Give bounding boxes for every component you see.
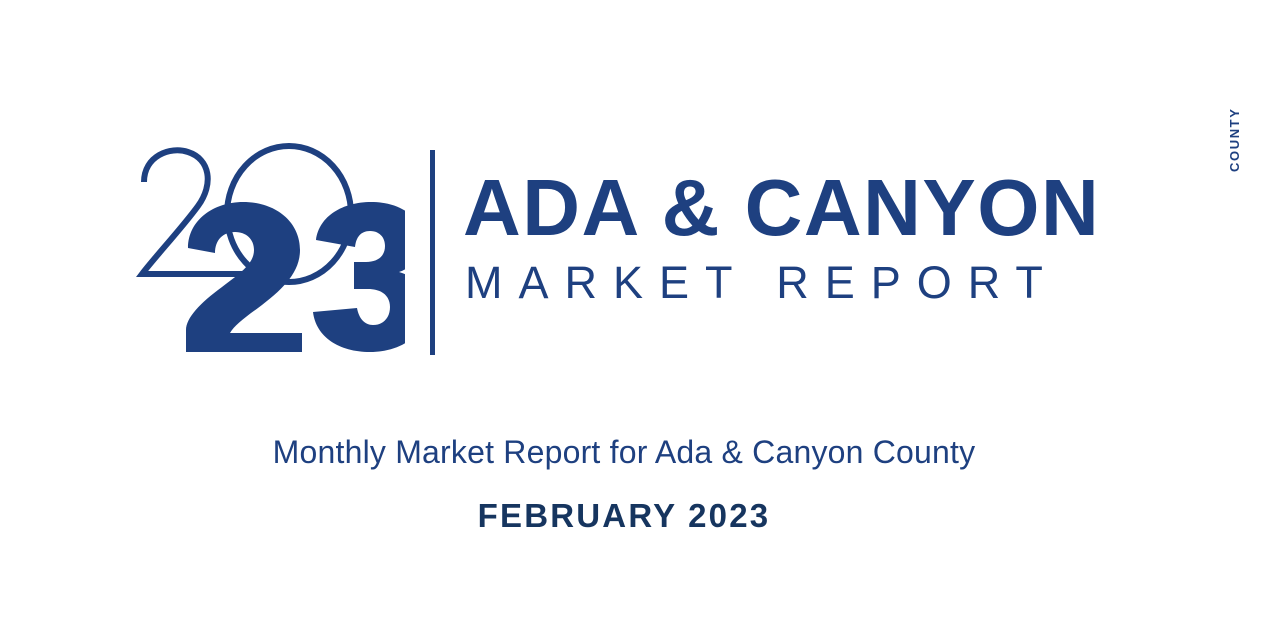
logo-divider-rule: [430, 150, 435, 355]
brand-wordmark: ADA & CANYON COUNTY MARKET REPORT: [463, 140, 1123, 355]
wordmark-secondary-text: MARKET REPORT: [465, 260, 1059, 305]
year-mark-graphic: [130, 140, 405, 355]
report-subtitle: Monthly Market Report for Ada & Canyon C…: [0, 430, 1248, 474]
wordmark-county-tag: COUNTY: [1228, 108, 1241, 173]
brand-logo-lockup: ADA & CANYON COUNTY MARKET REPORT: [130, 140, 1130, 355]
wordmark-primary-text: ADA & CANYON: [463, 168, 1100, 248]
report-cover-page: ADA & CANYON COUNTY MARKET REPORT Monthl…: [0, 0, 1276, 622]
cover-caption-block: Monthly Market Report for Ada & Canyon C…: [0, 430, 1248, 536]
year-2023-logo-mark: [130, 140, 405, 355]
report-date: FEBRUARY 2023: [0, 496, 1248, 536]
